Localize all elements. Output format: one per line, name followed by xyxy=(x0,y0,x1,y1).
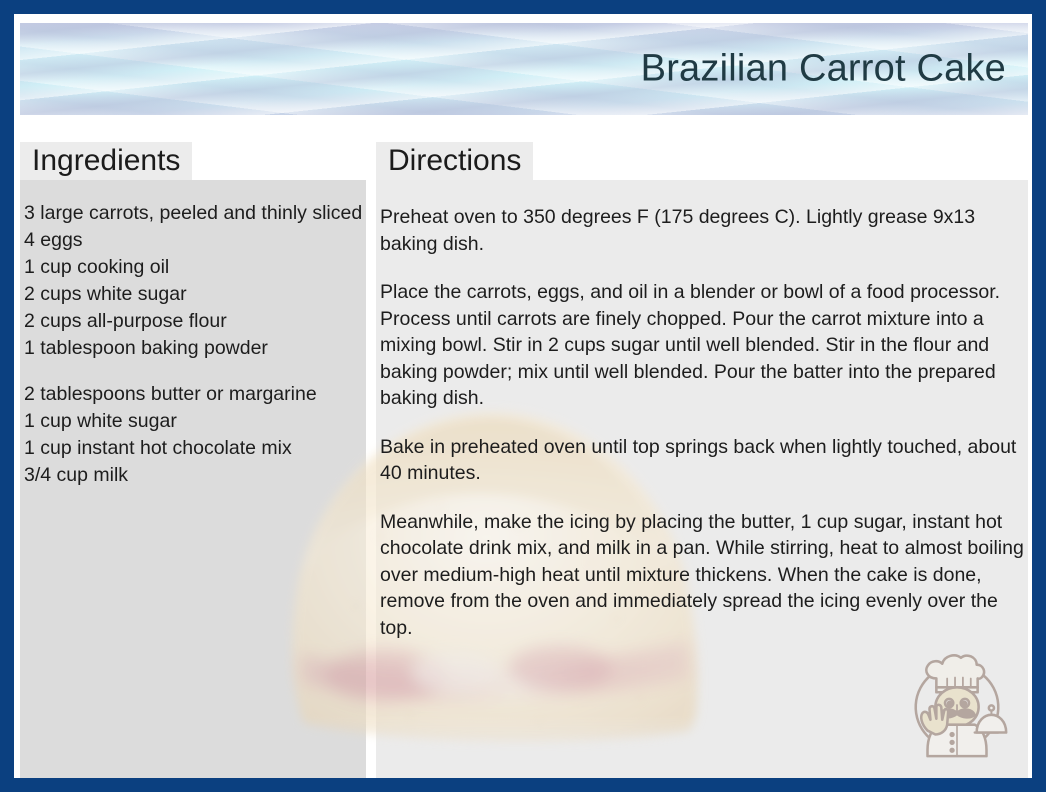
chef-mascot-logo xyxy=(898,646,1016,764)
list-item: 2 cups white sugar xyxy=(24,281,364,308)
ingredients-heading-tab: Ingredients xyxy=(20,142,192,180)
list-item: 1 cup instant hot chocolate mix xyxy=(24,435,364,462)
ingredients-list: 3 large carrots, peeled and thinly slice… xyxy=(24,200,364,489)
list-item: 4 eggs xyxy=(24,227,364,254)
direction-step: Meanwhile, make the icing by placing the… xyxy=(380,509,1030,642)
list-item: 3/4 cup milk xyxy=(24,462,364,489)
ingredients-group-divider xyxy=(24,362,364,381)
ingredients-group: 3 large carrots, peeled and thinly slice… xyxy=(24,200,364,362)
list-item: 3 large carrots, peeled and thinly slice… xyxy=(24,200,364,227)
directions-steps: Preheat oven to 350 degrees F (175 degre… xyxy=(380,204,1030,641)
direction-step: Preheat oven to 350 degrees F (175 degre… xyxy=(380,204,1030,257)
recipe-card: Brazilian Carrot Cake Ingredients Direct… xyxy=(14,14,1032,778)
direction-step: Place the carrots, eggs, and oil in a bl… xyxy=(380,279,1030,412)
direction-step: Bake in preheated oven until top springs… xyxy=(380,434,1030,487)
list-item: 1 cup cooking oil xyxy=(24,254,364,281)
title-banner: Brazilian Carrot Cake xyxy=(20,23,1028,115)
ingredients-group: 2 tablespoons butter or margarine 1 cup … xyxy=(24,381,364,489)
directions-heading: Directions xyxy=(376,146,533,176)
list-item: 2 cups all-purpose flour xyxy=(24,308,364,335)
directions-heading-tab: Directions xyxy=(376,142,533,180)
list-item: 1 cup white sugar xyxy=(24,408,364,435)
list-item: 1 tablespoon baking powder xyxy=(24,335,364,362)
page-title: Brazilian Carrot Cake xyxy=(641,48,1006,91)
list-item: 2 tablespoons butter or margarine xyxy=(24,381,364,408)
ingredients-heading: Ingredients xyxy=(20,146,192,176)
